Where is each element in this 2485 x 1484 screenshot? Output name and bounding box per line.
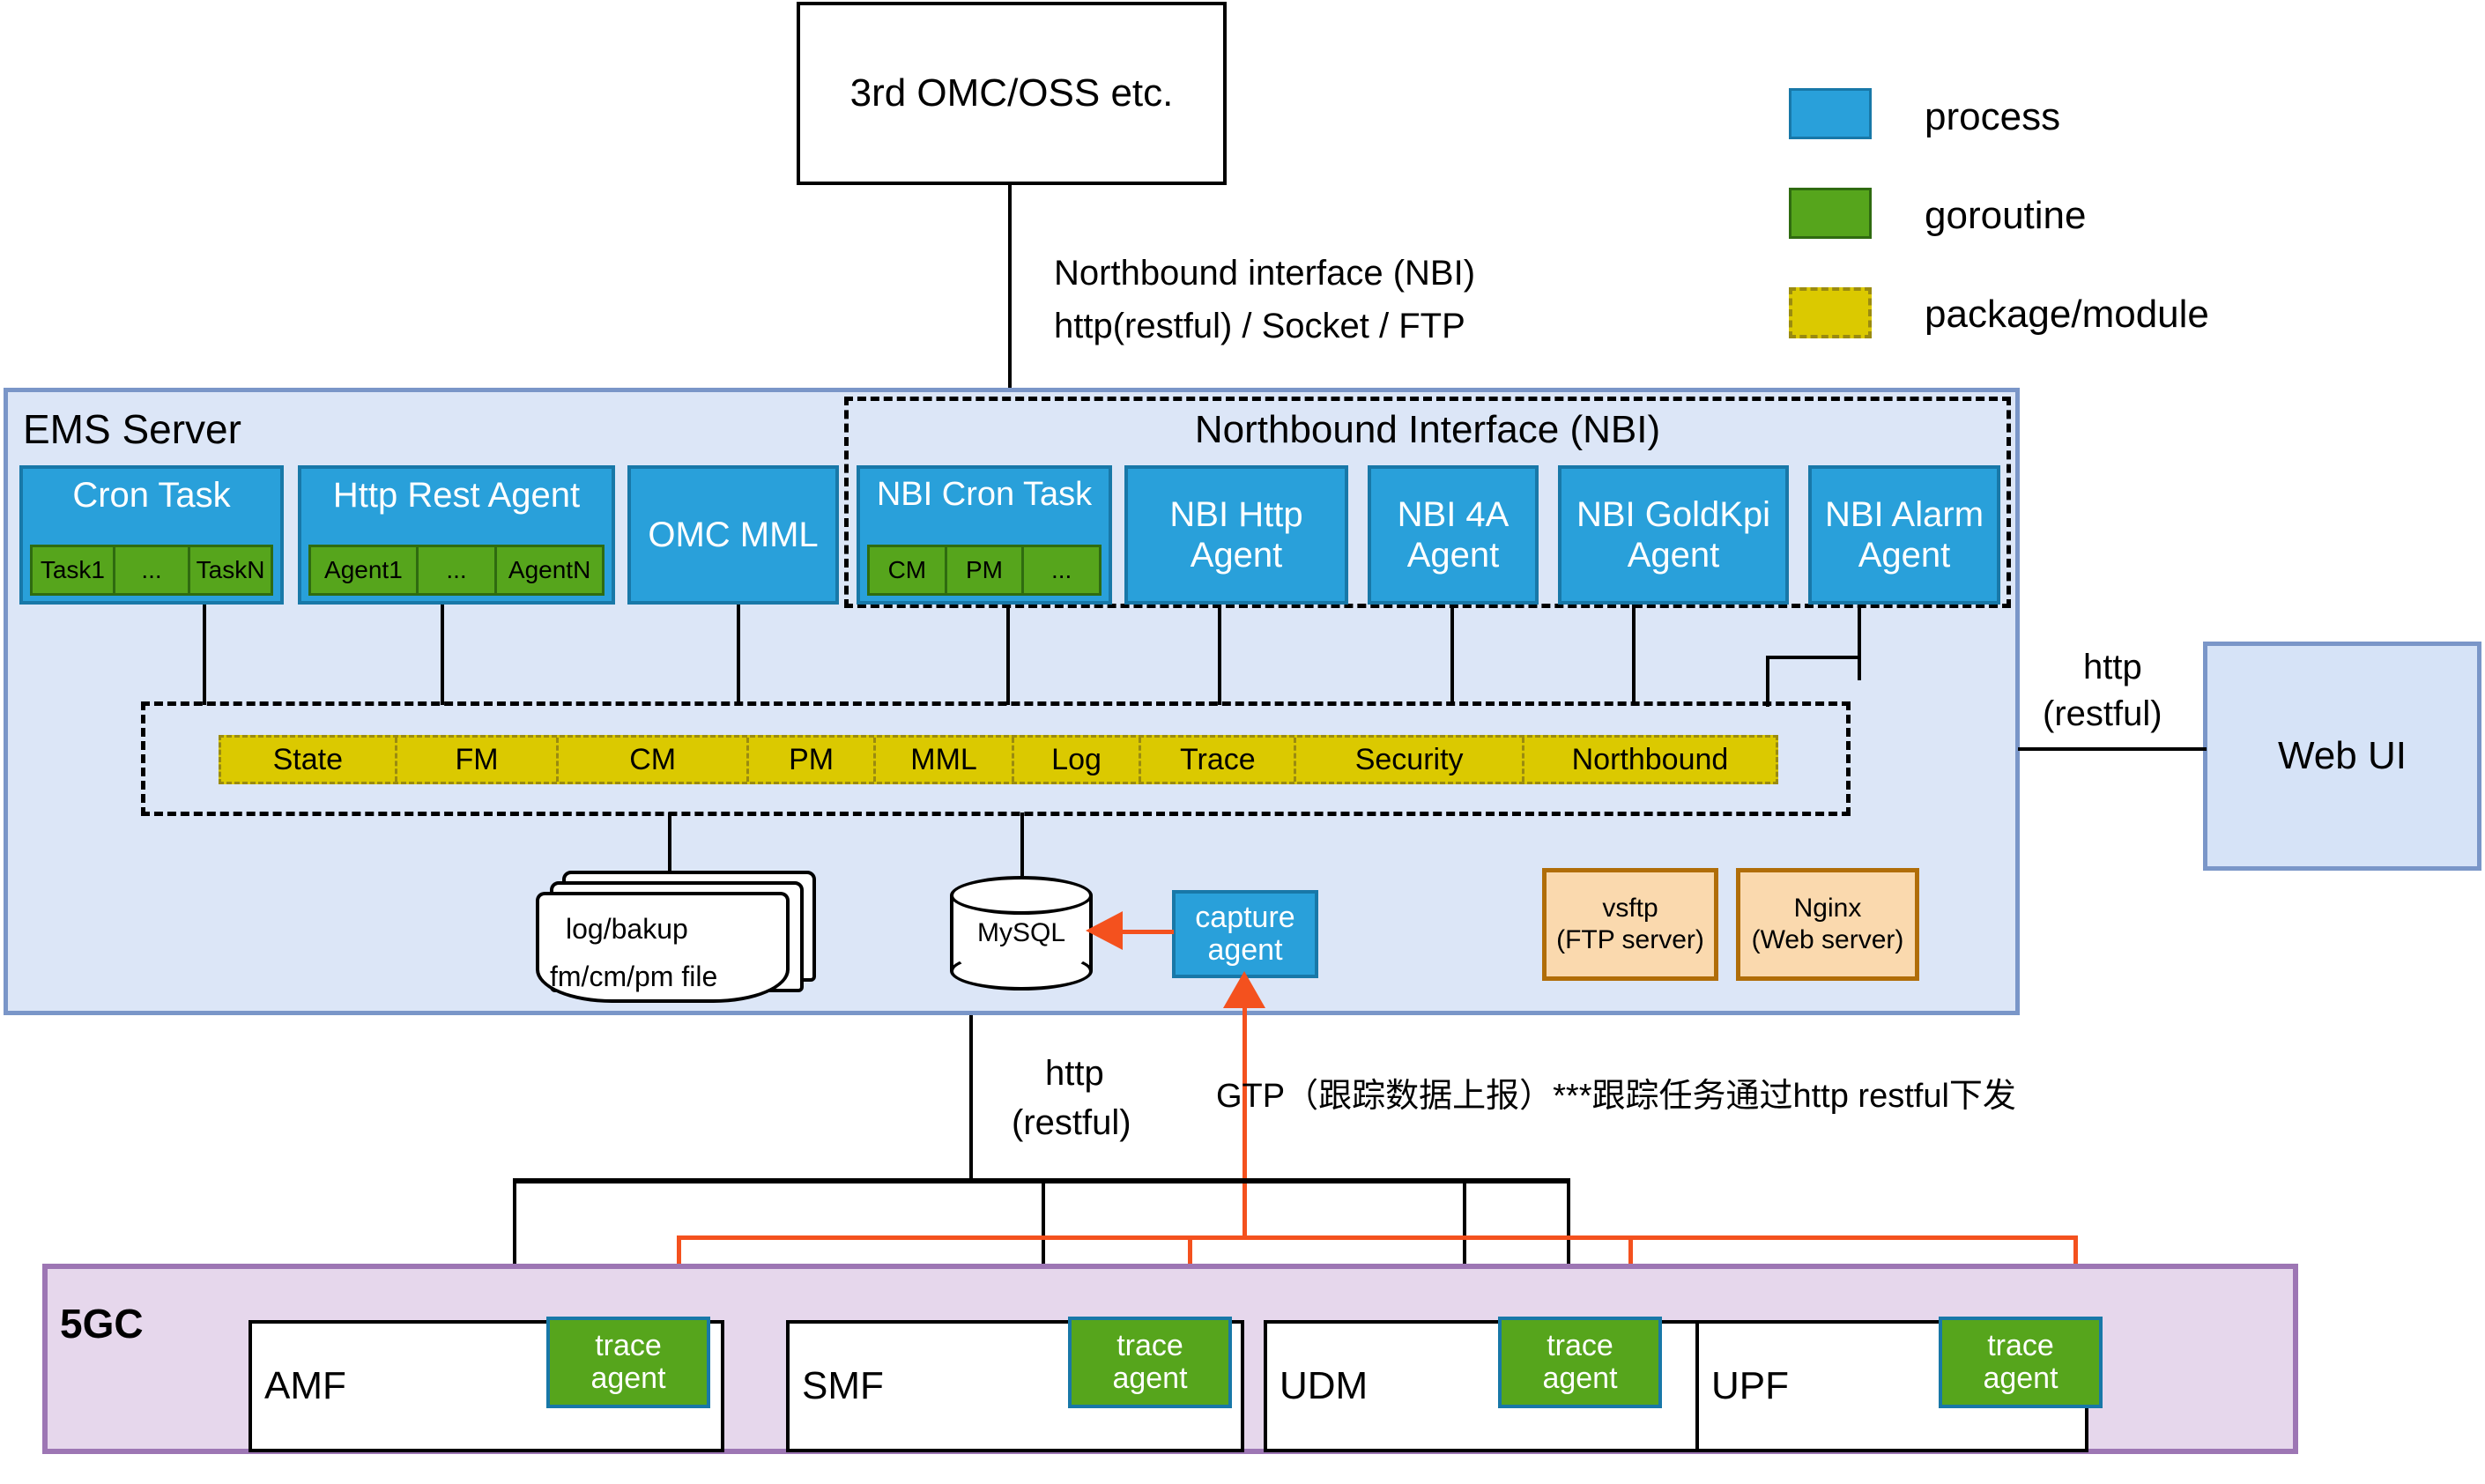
5gc-title: 5GC [60,1300,144,1347]
legend-swatch-module [1789,287,1872,338]
trace-agent-smf-line2: agent [1112,1362,1187,1395]
connector-nbi-4a-agent [1450,605,1454,705]
process-omc-mml[interactable]: OMC MML [627,465,839,605]
webui-link-label-line1: http [2083,648,2142,687]
trace-agent-amf[interactable]: trace agent [546,1317,710,1408]
web-ui-label: Web UI [2278,734,2407,779]
gtp-note-label: GTP（跟踪数据上报）***跟踪任务通过http restful下发 [1216,1068,2016,1117]
module-fm[interactable]: FM [397,738,560,782]
third-party-omc-oss-label: 3rd OMC/OSS etc. [850,71,1174,116]
connector-nbi-http-agent [1218,605,1221,705]
legend-swatch-goroutine [1789,188,1872,239]
service-nginx: Nginx (Web server) [1736,868,1919,981]
process-cron-task-title: Cron Task [23,476,280,516]
legend-label-process: process [1925,95,2060,139]
module-northbound[interactable]: Northbound [1524,738,1776,782]
process-capture-agent[interactable]: capture agent [1172,890,1318,978]
module-mml[interactable]: MML [876,738,1013,782]
goroutine-cell[interactable]: PM [947,547,1025,593]
process-omc-mml-title: OMC MML [648,515,818,555]
connector-nbi-cron-task [1006,605,1010,705]
goroutine-cell[interactable]: TaskN [190,547,271,593]
legend-swatch-process [1789,88,1872,139]
gtp-trunk-arrowhead [1223,971,1265,1008]
webui-link-label-line2: (restful) [2043,694,2162,734]
trace-agent-smf[interactable]: trace agent [1068,1317,1232,1408]
goroutine-cell[interactable]: Task1 [33,547,115,593]
goroutine-group-cron-task: Task1 ... TaskN [30,545,273,596]
trace-agent-amf-line1: trace [595,1330,662,1362]
network-function-amf-label: AMF [264,1364,346,1408]
trace-agent-udm[interactable]: trace agent [1498,1317,1662,1408]
connector-nbi-goldkpi-agent [1632,605,1636,705]
goroutine-group-http-rest-agent: Agent1 ... AgentN [308,545,605,596]
process-nbi-4a-agent[interactable]: NBI 4A Agent [1368,465,1539,605]
log-backup-files-stack: log/bakup fm/cm/pm file [536,871,827,996]
goroutine-cell[interactable]: AgentN [497,547,602,593]
capture-agent-label-line2: agent [1207,934,1282,967]
service-vsftp-line1: vsftp [1602,893,1658,924]
connector-cron-task [203,605,206,705]
nbi-link-label-line1: Northbound interface (NBI) [1054,254,1475,293]
module-state[interactable]: State [221,738,397,782]
capture-agent-label-line1: capture [1195,902,1294,934]
process-nbi-goldkpi-agent-title: NBI GoldKpi Agent [1569,494,1778,575]
goroutine-cell[interactable]: ... [1024,547,1099,593]
southbound-http-trunk [969,1015,973,1180]
trace-agent-upf-line2: agent [1983,1362,2058,1395]
trace-agent-amf-line2: agent [590,1362,665,1395]
process-nbi-cron-task-title: NBI Cron Task [860,476,1109,514]
mysql-cylinder-bottom [950,952,1093,991]
service-vsftp: vsftp (FTP server) [1542,868,1718,981]
goroutine-cell[interactable]: ... [115,547,190,593]
network-function-udm-label: UDM [1280,1364,1368,1408]
trace-agent-upf-line1: trace [1987,1330,2054,1362]
connector-http-rest-agent [441,605,444,705]
webui-link-line [2018,747,2207,751]
module-trace[interactable]: Trace [1141,738,1296,782]
process-nbi-alarm-agent-title: NBI Alarm Agent [1819,494,1990,575]
nbi-group-title: Northbound Interface (NBI) [844,407,2011,453]
goroutine-cell[interactable]: ... [419,547,497,593]
module-log[interactable]: Log [1014,738,1142,782]
network-function-smf-label: SMF [802,1364,884,1408]
log-backup-label-line1: log/bakup [566,913,688,946]
mysql-database: MySQL [950,876,1093,991]
connector-nbi-alarm-agent-upper [1858,605,1861,680]
process-nbi-goldkpi-agent[interactable]: NBI GoldKpi Agent [1558,465,1789,605]
southbound-http-label-line1: http [1045,1054,1104,1094]
mysql-label: MySQL [950,918,1093,948]
connector-files [668,812,671,872]
legend: process goroutine package/module [1789,88,2353,335]
web-ui-box[interactable]: Web UI [2203,642,2481,871]
service-vsftp-line2: (FTP server) [1556,924,1704,956]
trace-agent-udm-line2: agent [1542,1362,1617,1395]
log-backup-label-line2: fm/cm/pm file [550,961,717,993]
nbi-link-label-line2: http(restful) / Socket / FTP [1054,307,1465,346]
trace-bus [677,1235,2078,1240]
connector-nbi-alarm-agent-lower [1766,656,1769,707]
process-nbi-http-agent[interactable]: NBI Http Agent [1124,465,1348,605]
service-nginx-line2: (Web server) [1752,924,1904,956]
process-http-rest-agent-title: Http Rest Agent [301,476,612,516]
network-function-upf-label: UPF [1711,1364,1789,1408]
nbi-uplink-line [1008,185,1012,397]
module-pm[interactable]: PM [749,738,877,782]
service-nginx-line1: Nginx [1794,893,1862,924]
goroutine-cell[interactable]: Agent1 [311,547,419,593]
module-cm[interactable]: CM [559,738,748,782]
trace-agent-smf-line1: trace [1116,1330,1183,1362]
trace-agent-udm-line1: trace [1547,1330,1613,1362]
legend-label-goroutine: goroutine [1925,194,2086,238]
goroutine-cell[interactable]: CM [870,547,947,593]
gtp-trunk-line [1242,1003,1247,1237]
capture-to-mysql-arrowhead [1086,911,1123,950]
connector-nbi-alarm-agent-jog [1766,656,1861,659]
module-security[interactable]: Security [1296,738,1524,782]
mysql-cylinder-top [950,876,1093,915]
goroutine-group-nbi-cron-task: CM PM ... [867,545,1102,596]
legend-label-module: package/module [1925,293,2209,337]
ems-server-title: EMS Server [23,405,241,453]
process-nbi-alarm-agent[interactable]: NBI Alarm Agent [1808,465,2000,605]
process-nbi-4a-agent-title: NBI 4A Agent [1378,494,1528,575]
connector-omc-mml [737,605,740,705]
architecture-diagram: 3rd OMC/OSS etc. Northbound interface (N… [0,0,2485,1484]
module-bar: State FM CM PM MML Log Trace Security No… [219,735,1778,784]
trace-agent-upf[interactable]: trace agent [1939,1317,2103,1408]
process-nbi-http-agent-title: NBI Http Agent [1135,494,1338,575]
southbound-http-label-line2: (restful) [1012,1103,1131,1143]
third-party-omc-oss-box: 3rd OMC/OSS etc. [797,2,1227,185]
connector-mysql [1020,812,1024,876]
